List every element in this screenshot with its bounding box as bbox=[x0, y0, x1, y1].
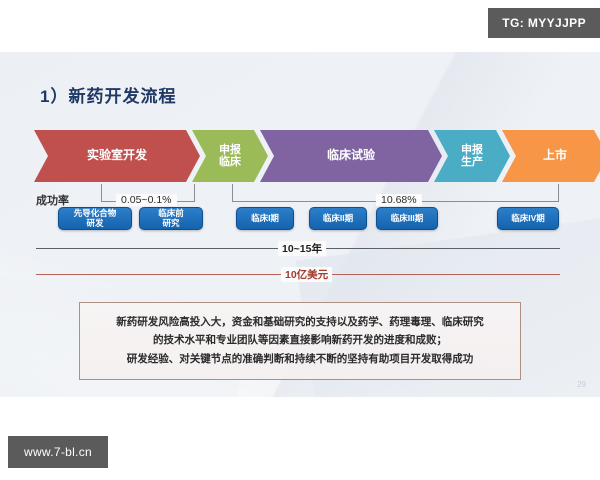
phase-pill-lead-compound[interactable]: 先导化合物研发 bbox=[58, 207, 132, 230]
phase-pill-clinical-iii[interactable]: 临床III期 bbox=[376, 207, 438, 230]
flow-stage-market-launch[interactable]: 上市 bbox=[502, 130, 600, 182]
tg-watermark-badge: TG: MYYJJPP bbox=[488, 8, 600, 38]
summary-callout: 新药研发风险高投入大，资金和基础研究的支持以及药学、药理毒理、临床研究 的技术水… bbox=[79, 302, 521, 380]
duration-label: 10~15年 bbox=[278, 241, 326, 256]
phase-pill-clinical-i[interactable]: 临床I期 bbox=[236, 207, 294, 230]
page-number: 29 bbox=[577, 380, 586, 389]
flow-stage-clinical-trial[interactable]: 临床试验 bbox=[260, 130, 442, 182]
flow-stage-lab-development[interactable]: 实验室开发 bbox=[34, 130, 200, 182]
callout-line-3: 研发经验、对关键节点的准确判断和持续不断的坚持有助项目开发取得成功 bbox=[94, 350, 506, 368]
success-rate-value-1: 0.05~0.1% bbox=[116, 194, 177, 206]
success-rate-label: 成功率 bbox=[36, 192, 69, 208]
phase-pill-clinical-ii[interactable]: 临床II期 bbox=[309, 207, 367, 230]
phase-pill-preclinical[interactable]: 临床前研究 bbox=[139, 207, 203, 230]
flow-stage-production-application[interactable]: 申报生产 bbox=[434, 130, 510, 182]
cost-label: 10亿美元 bbox=[281, 267, 332, 282]
flow-stage-clinical-application[interactable]: 申报临床 bbox=[192, 130, 268, 182]
phase-pill-clinical-iv[interactable]: 临床IV期 bbox=[497, 207, 559, 230]
process-flow: 实验室开发 申报临床 临床试验 申报生产 上市 bbox=[34, 130, 574, 182]
site-watermark-badge: www.7-bl.cn bbox=[8, 436, 108, 468]
success-rate-value-2: 10.68% bbox=[376, 194, 422, 206]
slide-canvas: 1）新药开发流程 实验室开发 申报临床 临床试验 申报生产 上市 成功率 0.0… bbox=[0, 52, 600, 397]
page-title: 1）新药开发流程 bbox=[40, 82, 176, 107]
callout-line-1: 新药研发风险高投入大，资金和基础研究的支持以及药学、药理毒理、临床研究 bbox=[94, 313, 506, 331]
callout-line-2: 的技术水平和专业团队等因素直接影响新药开发的进度和成败； bbox=[94, 331, 506, 349]
